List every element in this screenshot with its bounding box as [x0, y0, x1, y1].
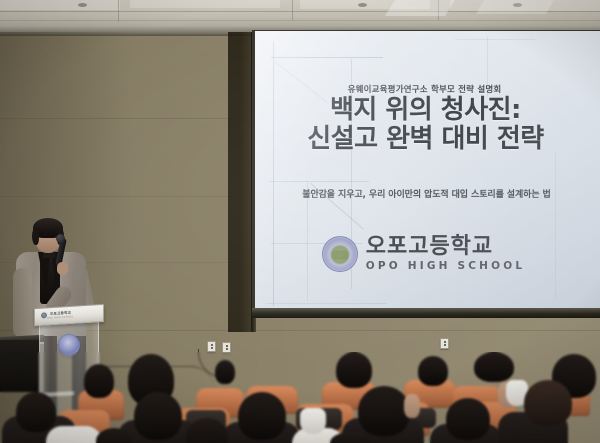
speaker-lapel-left — [38, 252, 50, 294]
school-name-korean: 오포고등학교 — [366, 236, 493, 258]
audience-head — [16, 392, 56, 432]
presentation-photo: 유웨이교육평가연구소 학부모 전략 설명회 백지 위의 청사진: 신설고 완벽 … — [0, 0, 600, 443]
slide-content: 유웨이교육평가연구소 학부모 전략 설명회 백지 위의 청사진: 신설고 완벽 … — [255, 31, 600, 310]
screen-bottom-edge — [252, 308, 600, 318]
school-name-english: OPO HIGH SCHOOL — [366, 261, 526, 272]
audience-head — [336, 352, 372, 388]
audience-head — [358, 386, 410, 436]
speaker-left-arm — [13, 268, 32, 338]
audience-head — [524, 380, 572, 426]
audience-head — [238, 392, 286, 440]
slide-eyebrow: 유웨이교육평가연구소 학부모 전략 설명회 — [255, 83, 594, 95]
audience-head — [215, 360, 235, 384]
speaker-hand — [57, 262, 68, 275]
slide-title-line-1: 백지 위의 청사진: — [255, 95, 596, 125]
slide-subtitle: 불안감을 지우고, 우리 아이만의 압도적 대입 스토리를 설계하는 법 — [255, 187, 598, 200]
audience-head — [134, 392, 182, 440]
school-logo-lockup: 오포고등학교 OPO HIGH SCHOOL — [255, 236, 592, 272]
audience — [0, 352, 600, 443]
audience-head — [474, 352, 514, 382]
audience-head — [418, 356, 448, 386]
audience-head — [446, 398, 490, 440]
projection-screen: 유웨이교육평가연구소 학부모 전략 설명회 백지 위의 청사진: 신설고 완벽 … — [255, 31, 600, 310]
ceiling-light-icon — [78, 3, 87, 7]
audience-mask-icon — [300, 408, 326, 434]
ceiling-light-icon — [358, 3, 367, 7]
audience-head — [84, 364, 114, 398]
microphone-head-icon — [56, 234, 65, 243]
wall-outlet-icon — [440, 338, 449, 349]
school-crest-emblem-icon — [322, 236, 358, 272]
slide-title-line-2: 신설고 완벽 대비 전략 — [255, 124, 596, 154]
audience-neck — [404, 394, 420, 418]
audience-shoulders — [46, 426, 102, 443]
school-logo-text: 오포고등학교 OPO HIGH SCHOOL — [366, 236, 526, 272]
